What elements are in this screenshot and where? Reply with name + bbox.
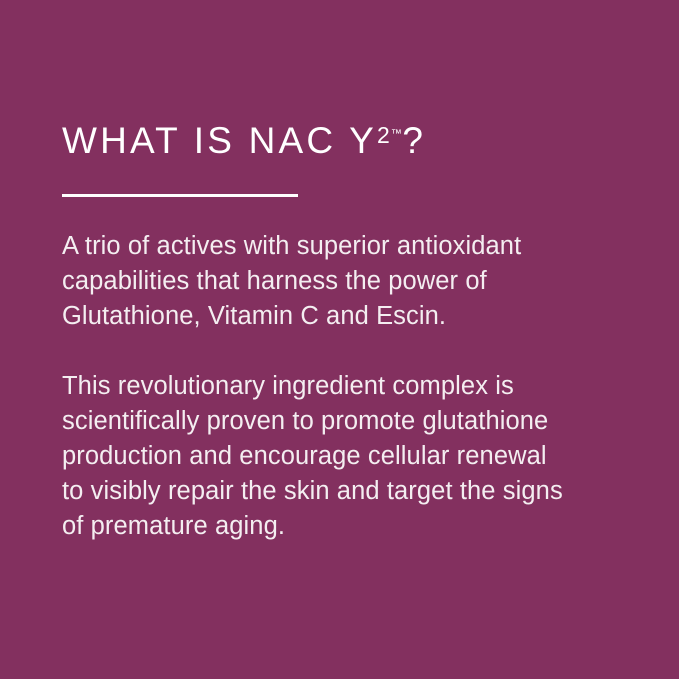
product-info-panel: WHAT IS NAC Y2™? A trio of actives with …: [0, 0, 679, 679]
page-title-question-mark: ?: [402, 120, 423, 161]
content-block: WHAT IS NAC Y2™? A trio of actives with …: [62, 118, 652, 544]
body-copy: A trio of actives with superior antioxid…: [62, 229, 652, 544]
paragraph-line: This revolutionary ingredient complex is: [62, 369, 652, 404]
paragraph-line: to visibly repair the skin and target th…: [62, 474, 652, 509]
paragraph-1: A trio of actives with superior antioxid…: [62, 229, 652, 334]
page-title-superscript-two: 2: [377, 122, 391, 148]
paragraph-line: of premature aging.: [62, 509, 652, 544]
page-title: WHAT IS NAC Y2™?: [62, 118, 652, 173]
paragraph-line: production and encourage cellular renewa…: [62, 439, 652, 474]
page-title-prefix: WHAT IS NAC Y: [62, 120, 377, 161]
trademark-icon: ™: [391, 128, 403, 140]
paragraph-line: capabilities that harness the power of: [62, 264, 652, 299]
paragraph-line: Glutathione, Vitamin C and Escin.: [62, 299, 652, 334]
paragraph-2: This revolutionary ingredient complex is…: [62, 369, 652, 544]
paragraph-line: A trio of actives with superior antioxid…: [62, 229, 652, 264]
paragraph-line: scientifically proven to promote glutath…: [62, 404, 652, 439]
heading-underline-divider: [62, 194, 298, 197]
